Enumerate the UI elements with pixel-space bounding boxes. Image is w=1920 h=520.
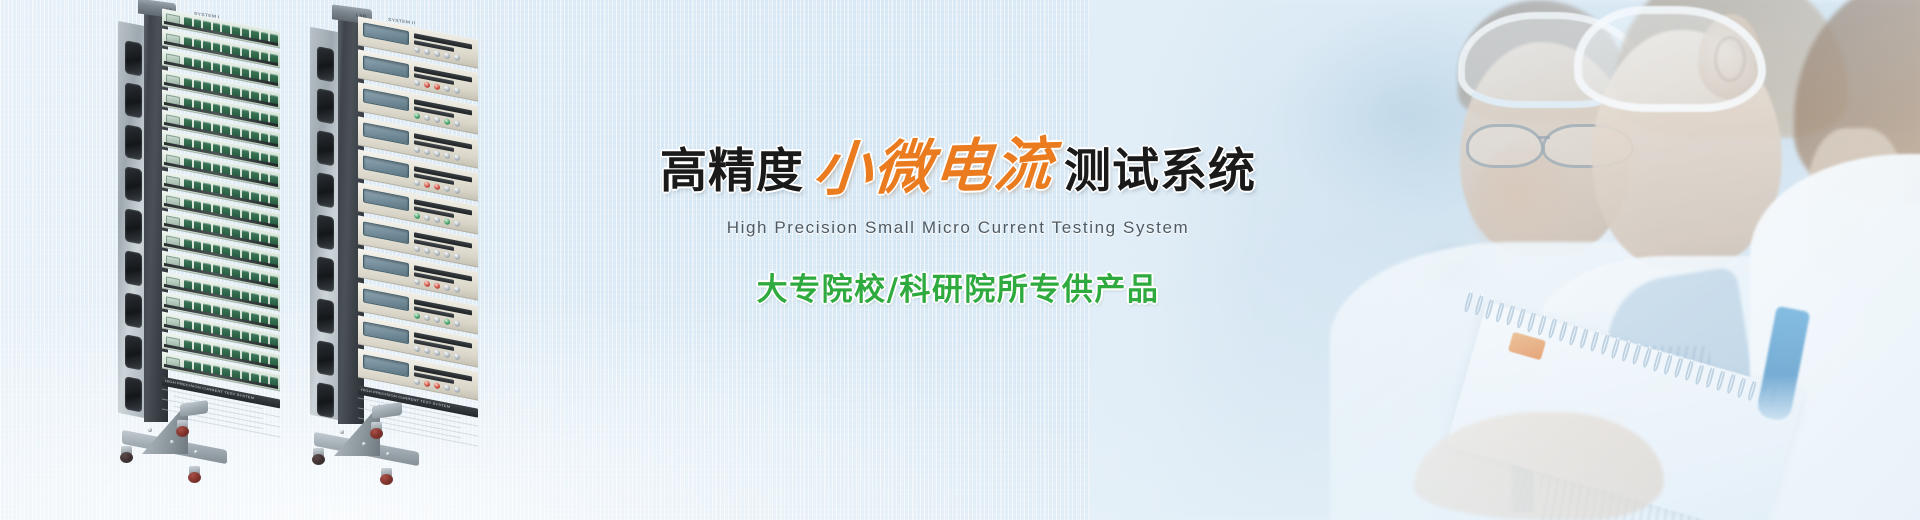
module-knob[interactable] (414, 179, 420, 186)
rack-caster-wheel (120, 446, 133, 463)
module-display (363, 288, 409, 311)
base-bolt (340, 430, 344, 434)
module-display (363, 321, 409, 344)
module-knob[interactable] (434, 315, 440, 322)
caster-tire (370, 428, 383, 439)
module-display (363, 155, 409, 178)
subtitle-english: High Precision Small Micro Current Testi… (648, 218, 1268, 238)
module-knob[interactable] (414, 378, 420, 385)
rack-caster-wheel (176, 420, 189, 437)
spiral-ring (1547, 317, 1558, 340)
caster-tire (176, 426, 189, 437)
caster-tire (120, 452, 133, 463)
rack-caster-wheel (312, 448, 325, 465)
rack-base (310, 398, 400, 490)
rack-ventilation-window (317, 172, 334, 208)
base-bolt (194, 450, 198, 454)
rack-ventilation-window (317, 340, 334, 376)
module-knob[interactable] (444, 85, 450, 92)
module-knob[interactable] (424, 81, 430, 88)
glasses-bridge (1538, 136, 1550, 139)
module-knob[interactable] (434, 182, 440, 189)
spiral-ring (1579, 326, 1590, 349)
module-knob[interactable] (444, 317, 450, 324)
module-display (363, 188, 409, 211)
rack-ventilation-window (317, 88, 334, 124)
module-knob[interactable] (444, 218, 450, 225)
base-bolt (386, 452, 390, 456)
rack-ventilation-window (125, 82, 142, 118)
module-knob[interactable] (454, 319, 460, 326)
module-knob[interactable] (434, 282, 440, 289)
module-display (363, 221, 409, 244)
module-knob[interactable] (424, 280, 430, 287)
spiral-ring (1726, 372, 1737, 395)
module-display (363, 22, 409, 45)
module-knob[interactable] (454, 352, 460, 359)
module-knob[interactable] (414, 79, 420, 86)
rack-ventilation-window (317, 130, 334, 166)
module-knob[interactable] (424, 380, 430, 387)
rack-ventilation-window (125, 250, 142, 286)
caster-tire (312, 454, 325, 465)
base-bolt (170, 440, 174, 444)
module-knob[interactable] (434, 249, 440, 256)
module-display (363, 354, 409, 377)
spiral-ring (1705, 366, 1716, 389)
spiral-ring (1673, 356, 1684, 379)
spiral-ring (1642, 346, 1653, 369)
rack-ventilation-window (317, 256, 334, 292)
lens-left (1466, 124, 1544, 168)
module-knob[interactable] (454, 286, 460, 293)
module-knob[interactable] (454, 120, 460, 127)
module-knob[interactable] (434, 382, 440, 389)
spiral-ring (1505, 303, 1516, 326)
module-knob[interactable] (414, 345, 420, 352)
spiral-ring (1694, 362, 1705, 385)
headline-prefix: 高精度 (660, 148, 804, 195)
spiral-ring (1495, 300, 1506, 323)
module-knob[interactable] (444, 251, 450, 258)
module-knob[interactable] (424, 180, 430, 187)
spiral-ring (1610, 336, 1621, 359)
base-bolt (362, 442, 366, 446)
headline-emphasis: 小微电流 (801, 135, 1066, 199)
base-beam-rear (372, 402, 402, 419)
spiral-ring (1526, 310, 1537, 333)
rack-ventilation-window (125, 166, 142, 202)
rack-ventilation-window (125, 292, 142, 328)
rack-ventilation-window (125, 208, 142, 244)
module-knob[interactable] (434, 50, 440, 57)
module-knob[interactable] (434, 216, 440, 223)
caster-tire (188, 472, 201, 483)
module-knob[interactable] (434, 116, 440, 123)
module-display (363, 55, 409, 78)
module-display (363, 122, 409, 145)
module-knob[interactable] (444, 52, 450, 59)
module-knob[interactable] (454, 385, 460, 392)
spiral-notebook (1420, 286, 1860, 520)
rack-ventilation-window (317, 46, 334, 82)
module-knob[interactable] (454, 153, 460, 160)
module-knob[interactable] (424, 346, 430, 353)
module-knob[interactable] (454, 87, 460, 94)
rack-ventilation-window (317, 298, 334, 334)
headline-block: 高精度 小微电流 测试系统 High Precision Small Micro… (648, 138, 1268, 309)
module-knob[interactable] (424, 147, 430, 154)
spiral-ring (1516, 307, 1527, 330)
rack-caster-wheel (380, 468, 393, 485)
module-knob[interactable] (444, 184, 450, 191)
module-knob[interactable] (424, 313, 430, 320)
module-display (363, 255, 409, 278)
spiral-ring (1484, 297, 1495, 320)
caster-tire (380, 474, 393, 485)
module-knob[interactable] (424, 247, 430, 254)
rack-base (118, 396, 204, 488)
module-knob[interactable] (454, 219, 460, 226)
tagline-chinese: 大专院校/科研院所专供产品 (648, 264, 1268, 309)
base-beam-rear (180, 400, 208, 417)
spiral-ring (1684, 359, 1695, 382)
module-knob[interactable] (454, 253, 460, 260)
rack-caster-wheel (370, 422, 383, 439)
module-knob[interactable] (444, 384, 450, 391)
rack-ventilation-window (317, 214, 334, 250)
rack-ventilation-window (125, 334, 142, 370)
module-knob[interactable] (414, 46, 420, 53)
module-knob[interactable] (444, 118, 450, 125)
module-knob[interactable] (434, 348, 440, 355)
module-knob[interactable] (414, 311, 420, 318)
spiral-ring (1736, 375, 1747, 398)
module-knob[interactable] (454, 53, 460, 60)
module-knob[interactable] (424, 114, 430, 121)
module-knob[interactable] (434, 83, 440, 90)
module-knob[interactable] (424, 48, 430, 55)
spiral-ring (1663, 353, 1674, 376)
module-knob[interactable] (414, 278, 420, 285)
module-knob[interactable] (454, 186, 460, 193)
spiral-ring (1474, 294, 1485, 317)
rack-ventilation-window (125, 40, 142, 76)
spiral-ring (1568, 323, 1579, 346)
spiral-ring (1600, 333, 1611, 356)
spiral-ring (1747, 379, 1758, 402)
hero-banner: LABSYSTEM IHIGH PRECISION CURRENT TEST S… (0, 0, 1920, 520)
module-knob[interactable] (414, 245, 420, 252)
module-knob[interactable] (444, 151, 450, 158)
module-knob[interactable] (414, 212, 420, 219)
rack-ventilation-window (125, 124, 142, 160)
spiral-ring (1558, 320, 1569, 343)
module-knob[interactable] (444, 350, 450, 357)
spiral-ring (1463, 290, 1474, 313)
spiral-ring (1589, 330, 1600, 353)
module-knob[interactable] (414, 145, 420, 152)
module-display (363, 89, 409, 112)
module-knob[interactable] (424, 214, 430, 221)
rack-caster-wheel (188, 466, 201, 483)
spiral-ring (1652, 349, 1663, 372)
module-knob[interactable] (434, 149, 440, 156)
spiral-ring (1631, 343, 1642, 366)
module-knob[interactable] (414, 112, 420, 119)
headline-suffix: 测试系统 (1064, 148, 1256, 195)
module-knob[interactable] (444, 284, 450, 291)
blue-pen (1756, 306, 1811, 422)
base-bolt (148, 428, 152, 432)
main-headline: 高精度 小微电流 测试系统 (648, 138, 1268, 196)
spiral-ring (1621, 339, 1632, 362)
spiral-ring (1715, 369, 1726, 392)
spiral-ring (1537, 313, 1548, 336)
